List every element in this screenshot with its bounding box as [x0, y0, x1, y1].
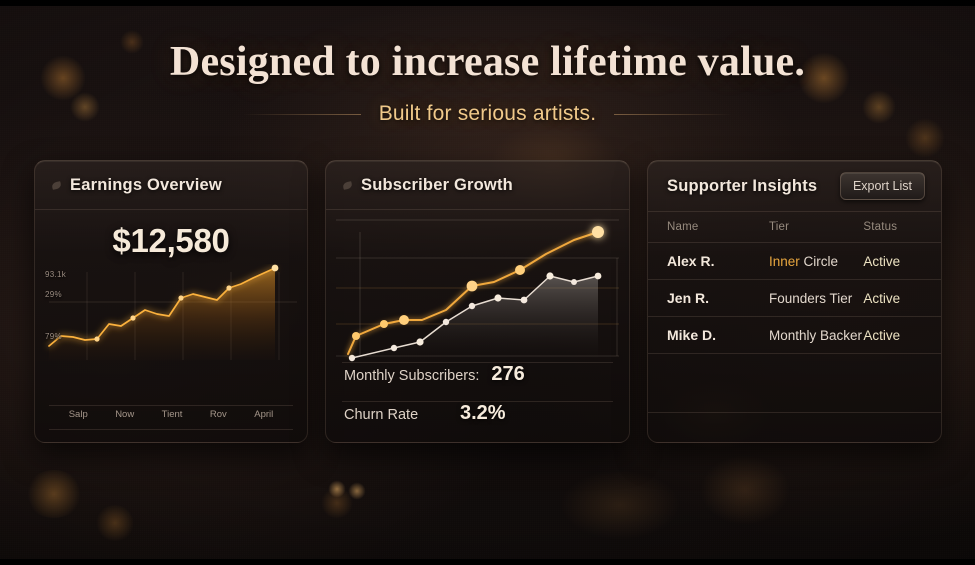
earnings-area-chart [35, 264, 308, 382]
page-subtitle: Built for serious artists. [379, 102, 597, 126]
page-root: Designed to increase lifetime value. Bui… [0, 0, 975, 565]
data-point [399, 315, 409, 325]
stat-label: Monthly Subscribers: [344, 368, 479, 384]
data-point [349, 355, 355, 361]
divider-left [243, 114, 361, 115]
export-list-button[interactable]: Export List [840, 172, 925, 200]
column-header-status: Status [863, 221, 922, 233]
status-badge: Active [863, 254, 922, 269]
subscriber-line-chart [334, 214, 623, 364]
data-point [443, 319, 449, 325]
status-badge: Active [863, 328, 922, 343]
tier-rest: Founders Tier [769, 291, 852, 306]
tier-rest: Monthly Backer [769, 328, 862, 343]
supporter-tier: Monthly Backer [769, 328, 863, 343]
x-axis-label: Now [115, 409, 134, 420]
table-row[interactable]: Mike D. Monthly Backer Active [648, 317, 941, 353]
earnings-value: $12,580 [35, 222, 307, 260]
stat-churn-rate: Churn Rate 3.2% [326, 402, 629, 440]
supporter-name: Mike D. [667, 327, 769, 343]
data-point [352, 332, 360, 340]
data-point [178, 295, 183, 300]
earnings-footer: Salp Now Tient Rov April [49, 405, 293, 420]
tier-accent: Inner [769, 254, 800, 269]
card-title: Earnings Overview [70, 176, 222, 195]
cards-row: Earnings Overview $12,580 [34, 160, 942, 443]
x-axis-label: Tient [162, 409, 183, 420]
card-header: Earnings Overview [35, 161, 307, 209]
column-header-name: Name [667, 221, 769, 233]
column-header-tier: Tier [769, 221, 863, 233]
card-title: Subscriber Growth [361, 176, 513, 195]
stat-monthly-subscribers: Monthly Subscribers: 276 [326, 363, 629, 401]
divider-right [614, 114, 732, 115]
leaf-icon [51, 181, 61, 190]
data-point [494, 294, 501, 301]
data-point [380, 320, 388, 328]
earnings-chart: 93.1k 29% 79% [35, 264, 307, 382]
tier-rest: Circle [800, 254, 838, 269]
supporter-tier: Inner Circle [769, 254, 863, 269]
data-point [416, 338, 423, 345]
table-bottom-divider [648, 412, 941, 413]
page-title: Designed to increase lifetime value. [0, 38, 975, 86]
data-point [391, 345, 397, 351]
data-point [521, 297, 528, 304]
subscriber-chart [326, 210, 629, 362]
data-point [226, 285, 231, 290]
data-point [571, 279, 577, 285]
data-point [94, 336, 99, 341]
table-header-row: Name Tier Status [648, 212, 941, 242]
data-point [515, 265, 525, 275]
y-axis-label: 93.1k [45, 270, 66, 279]
data-point [130, 315, 135, 320]
x-axis: Salp Now Tient Rov April [49, 409, 293, 420]
y-axis-label: 79% [45, 332, 62, 341]
card-subscriber-growth[interactable]: Subscriber Growth [325, 160, 630, 443]
card-supporter-insights[interactable]: Supporter Insights Export List Name Tier… [647, 160, 942, 443]
screen-edge-bottom [0, 559, 975, 565]
header-divider [35, 209, 307, 210]
stat-value: 276 [491, 363, 524, 386]
card-bottom-divider [49, 429, 293, 430]
card-earnings-overview[interactable]: Earnings Overview $12,580 [34, 160, 308, 443]
card-title: Supporter Insights [667, 177, 817, 196]
supporter-name: Jen R. [667, 290, 769, 306]
screen-edge-top [0, 0, 975, 6]
x-axis-label: Rov [210, 409, 227, 420]
subtitle-row: Built for serious artists. [0, 102, 975, 126]
status-badge: Active [863, 291, 922, 306]
table-row[interactable]: Jen R. Founders Tier Active [648, 280, 941, 316]
table-row[interactable]: Alex R. Inner Circle Active [648, 243, 941, 279]
stat-value: 3.2% [460, 402, 506, 425]
data-point [469, 303, 475, 309]
hero-header: Designed to increase lifetime value. Bui… [0, 38, 975, 126]
supporter-name: Alex R. [667, 253, 769, 269]
supporter-tier: Founders Tier [769, 291, 863, 306]
table-empty-row [648, 354, 941, 412]
card-header: Supporter Insights Export List [648, 161, 941, 211]
axis-divider [49, 405, 293, 406]
stat-label: Churn Rate [344, 407, 448, 423]
data-point [546, 272, 553, 279]
data-point [467, 281, 478, 292]
data-point [592, 226, 604, 238]
card-header: Subscriber Growth [326, 161, 629, 209]
y-axis-label: 29% [45, 290, 62, 299]
data-point [272, 265, 279, 272]
x-axis-label: April [254, 409, 273, 420]
x-axis-label: Salp [69, 409, 88, 420]
data-point [595, 273, 602, 280]
leaf-icon [342, 181, 352, 190]
